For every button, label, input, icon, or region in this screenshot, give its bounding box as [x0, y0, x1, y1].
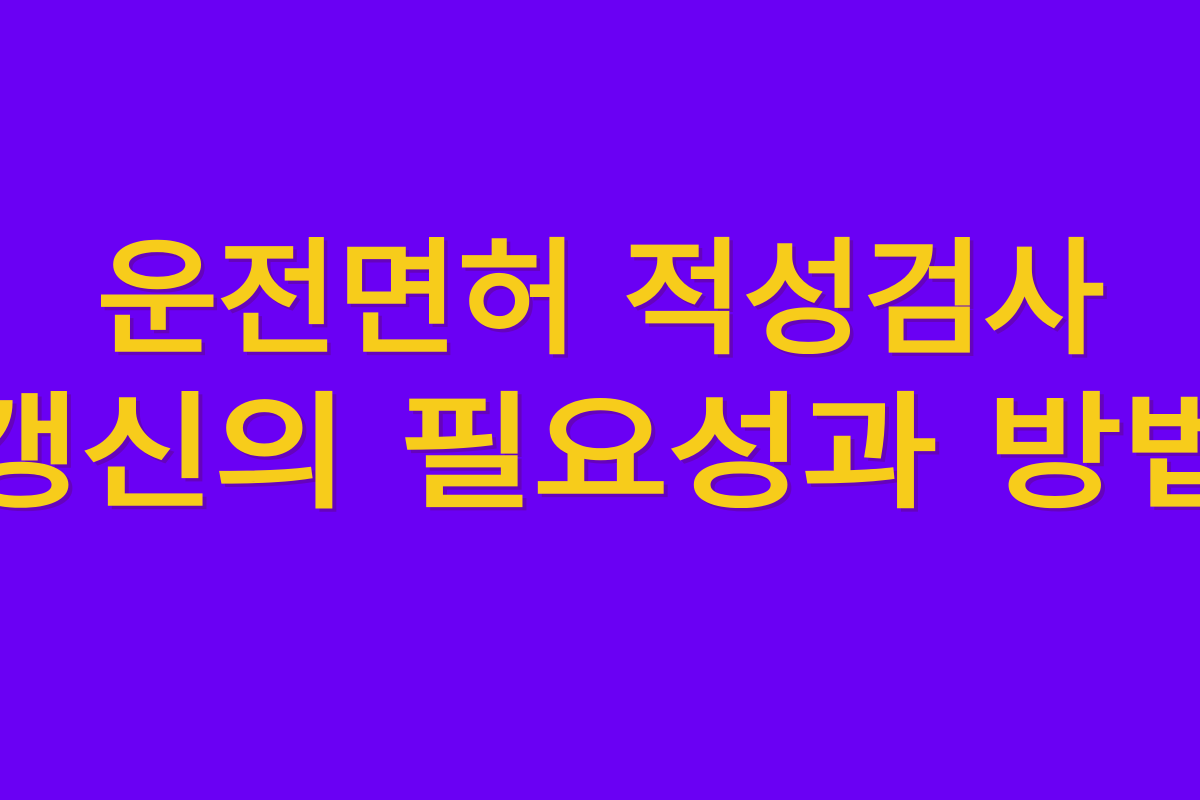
- headline-block: 운전면허 적성검사 갱신의 필요성과 방법: [0, 236, 1200, 518]
- title-banner: 운전면허 적성검사 갱신의 필요성과 방법: [0, 0, 1200, 800]
- headline-line-1: 운전면허 적성검사: [0, 228, 1200, 371]
- headline-line-2: 갱신의 필요성과 방법: [0, 382, 1200, 525]
